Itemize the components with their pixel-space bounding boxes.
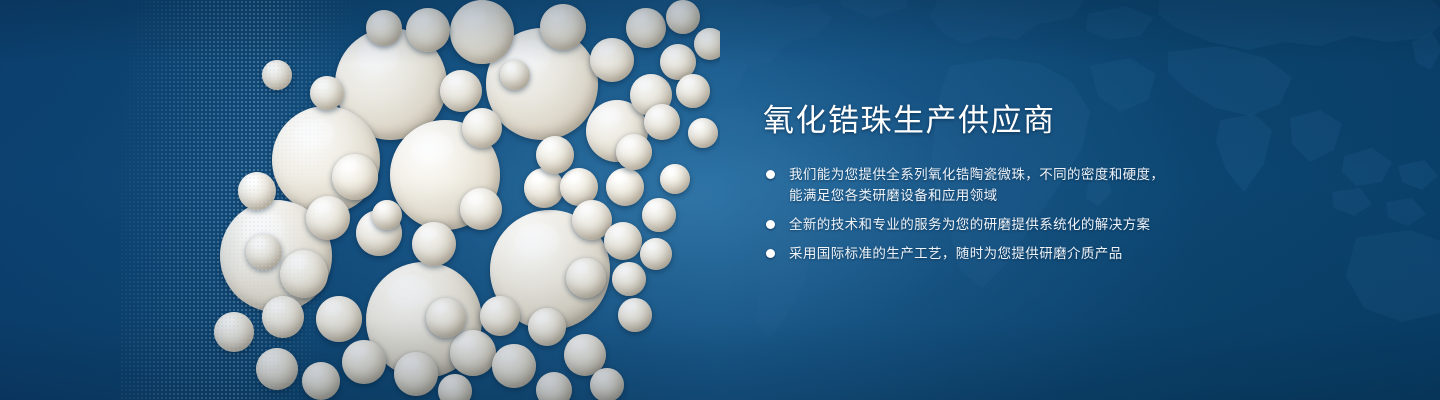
bullet-dot-icon xyxy=(766,249,775,258)
list-item-line: 能满足您各类研磨设备和应用领域 xyxy=(789,185,1283,206)
page-title: 氧化锆珠生产供应商 xyxy=(763,104,1283,138)
list-item-line: 我们能为您提供全系列氧化锆陶瓷微珠，不同的密度和硬度， xyxy=(789,164,1283,185)
list-item: 我们能为您提供全系列氧化锆陶瓷微珠，不同的密度和硬度， 能满足您各类研磨设备和应… xyxy=(763,164,1283,206)
hero-banner: 氧化锆珠生产供应商 我们能为您提供全系列氧化锆陶瓷微珠，不同的密度和硬度， 能满… xyxy=(0,0,1440,400)
banner-content: 氧化锆珠生产供应商 我们能为您提供全系列氧化锆陶瓷微珠，不同的密度和硬度， 能满… xyxy=(763,104,1283,264)
list-item: 全新的技术和专业的服务为您的研磨提供系统化的解决方案 xyxy=(763,214,1283,235)
list-item: 采用国际标准的生产工艺，随时为您提供研磨介质产品 xyxy=(763,243,1283,264)
bullet-dot-icon xyxy=(766,220,775,229)
bullet-dot-icon xyxy=(766,170,775,179)
list-item-line: 全新的技术和专业的服务为您的研磨提供系统化的解决方案 xyxy=(789,214,1283,235)
feature-list: 我们能为您提供全系列氧化锆陶瓷微珠，不同的密度和硬度， 能满足您各类研磨设备和应… xyxy=(763,164,1283,264)
list-item-line: 采用国际标准的生产工艺，随时为您提供研磨介质产品 xyxy=(789,243,1283,264)
